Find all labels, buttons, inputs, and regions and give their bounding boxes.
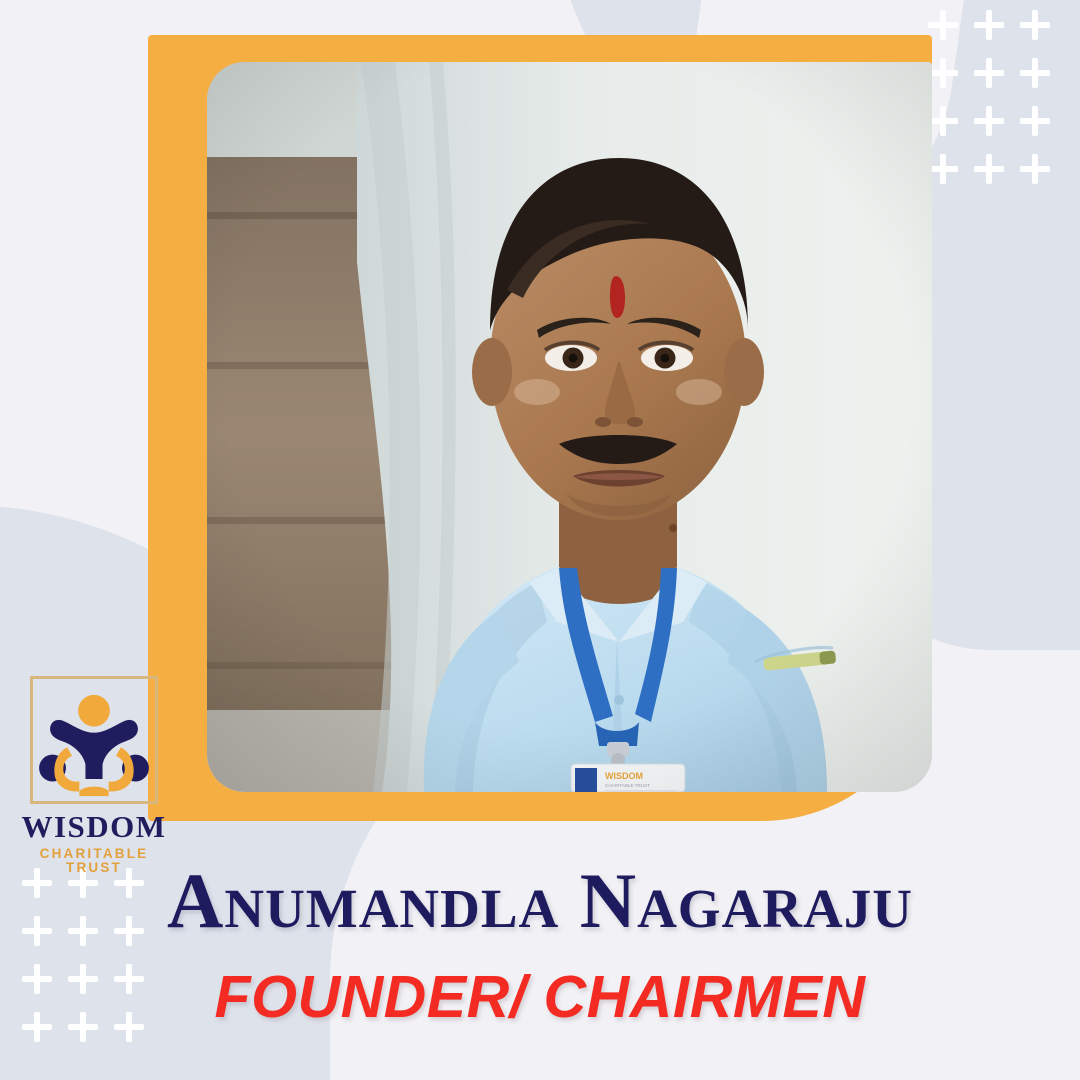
profile-poster: WISDOM CHARITABLE TRUST bbox=[0, 0, 1080, 1080]
plus-icon bbox=[1016, 102, 1054, 140]
logo-mark-icon bbox=[30, 676, 158, 804]
plus-icon bbox=[970, 54, 1008, 92]
plus-icon bbox=[1016, 6, 1054, 44]
portrait-illustration: WISDOM CHARITABLE TRUST bbox=[207, 62, 932, 792]
plus-icon bbox=[1016, 54, 1054, 92]
plus-pattern-top-right bbox=[924, 6, 1062, 198]
three-people-unity-icon bbox=[33, 679, 155, 801]
plus-icon bbox=[970, 6, 1008, 44]
plus-icon bbox=[1016, 150, 1054, 188]
logo-wordmark: WISDOM bbox=[18, 811, 170, 842]
plus-icon bbox=[970, 150, 1008, 188]
person-role: FOUNDER/ CHAIRMEN bbox=[0, 968, 1080, 1027]
person-name: Anumandla Nagaraju bbox=[0, 862, 1080, 940]
portrait-photo: WISDOM CHARITABLE TRUST bbox=[207, 62, 932, 792]
organization-logo: WISDOM CHARITABLE TRUST bbox=[18, 676, 170, 856]
plus-icon bbox=[970, 102, 1008, 140]
